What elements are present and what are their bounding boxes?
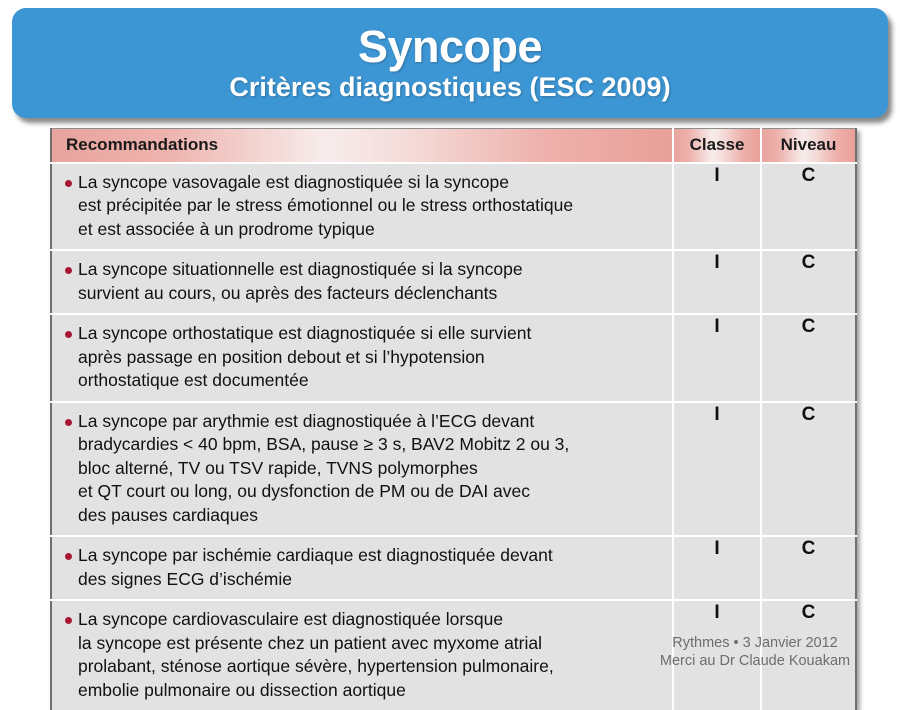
classe-value: I (673, 600, 761, 710)
recommendation-text-cont: des signes ECG d’ischémie (64, 568, 666, 592)
bullet-icon (65, 617, 72, 624)
recommendation-text-cont: survient au cours, ou après des facteurs… (64, 282, 666, 306)
classe-value: I (673, 402, 761, 537)
table-row: La syncope par arythmie est diagnostiqué… (51, 402, 856, 537)
recommendation-text: La syncope situationnelle est diagnostiq… (64, 258, 666, 282)
recommendations-table: Recommandations Classe Niveau La syncope… (50, 128, 857, 710)
bullet-icon (65, 331, 72, 338)
recommendation-text-cont: est précipitée par le stress émotionnel … (64, 194, 666, 218)
recommendation-text-cont: après passage en position debout et si l… (64, 346, 666, 370)
recommendation-text: La syncope cardiovasculaire est diagnost… (64, 608, 666, 632)
recommendation-cell: La syncope orthostatique est diagnostiqu… (51, 314, 673, 402)
table-header-row: Recommandations Classe Niveau (51, 129, 856, 163)
recommendation-cell: La syncope vasovagale est diagnostiquée … (51, 163, 673, 251)
niveau-value: C (761, 250, 856, 314)
recommendation-cell: La syncope par arythmie est diagnostiqué… (51, 402, 673, 537)
title-banner: Syncope Critères diagnostiques (ESC 2009… (12, 8, 888, 118)
recommendation-cell: La syncope par ischémie cardiaque est di… (51, 536, 673, 600)
bullet-icon (65, 267, 72, 274)
recommendation-text-cont: et QT court ou long, ou dysfonction de P… (64, 480, 666, 504)
recommendation-text: La syncope par arythmie est diagnostiqué… (64, 410, 666, 434)
recommendation-text: La syncope par ischémie cardiaque est di… (64, 544, 666, 568)
niveau-value: C (761, 600, 856, 710)
classe-value: I (673, 250, 761, 314)
table-row: La syncope cardiovasculaire est diagnost… (51, 600, 856, 710)
table-body: La syncope vasovagale est diagnostiquée … (51, 163, 856, 710)
recommendation-text-cont: des pauses cardiaques (64, 504, 666, 528)
classe-value: I (673, 163, 761, 251)
recommendation-text-cont: et est associée à un prodrome typique (64, 218, 666, 242)
niveau-value: C (761, 314, 856, 402)
recommendation-text-cont: embolie pulmonaire ou dissection aortiqu… (64, 679, 666, 703)
classe-value: I (673, 314, 761, 402)
table-row: La syncope orthostatique est diagnostiqu… (51, 314, 856, 402)
recommendation-text-cont: bloc alterné, TV ou TSV rapide, TVNS pol… (64, 457, 666, 481)
recommendation-text-cont: la syncope est présente chez un patient … (64, 632, 666, 656)
recommendation-cell: La syncope cardiovasculaire est diagnost… (51, 600, 673, 710)
table-row: La syncope vasovagale est diagnostiquée … (51, 163, 856, 251)
bullet-icon (65, 180, 72, 187)
recommendation-text: La syncope orthostatique est diagnostiqu… (64, 322, 666, 346)
page-title: Syncope (358, 23, 542, 70)
table-row: La syncope par ischémie cardiaque est di… (51, 536, 856, 600)
recommendation-cell: La syncope situationnelle est diagnostiq… (51, 250, 673, 314)
table-row: La syncope situationnelle est diagnostiq… (51, 250, 856, 314)
bullet-icon (65, 419, 72, 426)
niveau-value: C (761, 163, 856, 251)
column-header-classe: Classe (673, 129, 761, 163)
page-subtitle: Critères diagnostiques (ESC 2009) (229, 72, 670, 103)
column-header-niveau: Niveau (761, 129, 856, 163)
recommendation-text-cont: orthostatique est documentée (64, 369, 666, 393)
column-header-recommandations: Recommandations (51, 129, 673, 163)
niveau-value: C (761, 402, 856, 537)
recommendation-text-cont: bradycardies < 40 bpm, BSA, pause ≥ 3 s,… (64, 433, 666, 457)
classe-value: I (673, 536, 761, 600)
niveau-value: C (761, 536, 856, 600)
bullet-icon (65, 553, 72, 560)
recommendation-text: La syncope vasovagale est diagnostiquée … (64, 171, 666, 195)
